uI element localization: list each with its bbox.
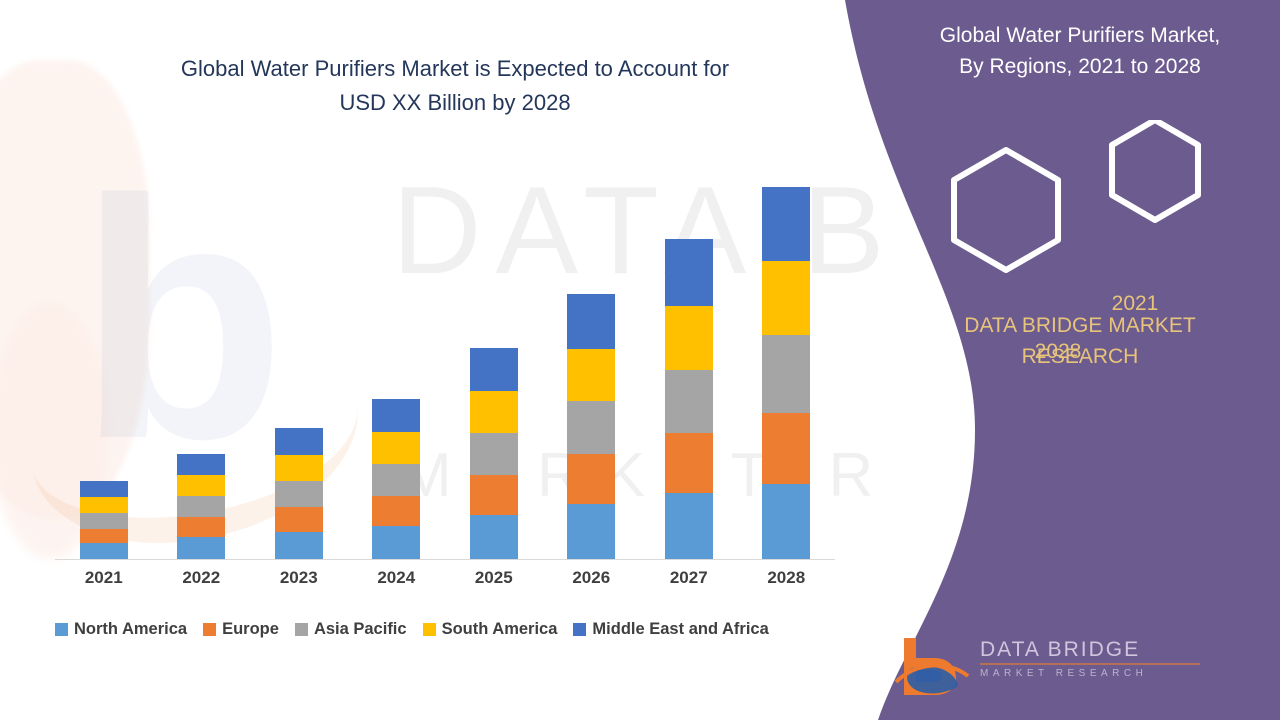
bar-segment (80, 513, 128, 529)
bar-segment (567, 401, 615, 454)
footer-logo: DATA BRIDGE MARKET RESEARCH (890, 632, 1280, 700)
bar-segment (275, 455, 323, 481)
legend-label: North America (74, 620, 187, 639)
bar-segment (275, 532, 323, 559)
bar-segment (567, 504, 615, 559)
bar-segment (372, 496, 420, 526)
bar-segment (665, 433, 713, 493)
legend-label: Europe (222, 620, 279, 639)
footer-logo-tagline: MARKET RESEARCH (980, 668, 1230, 679)
x-axis-tick-label: 2025 (449, 568, 539, 588)
brand-name: DATA BRIDGE MARKET RESEARCH (880, 310, 1280, 372)
bar-segment (567, 349, 615, 402)
bar-segment (275, 481, 323, 507)
bar-segment (177, 475, 225, 496)
bar-segment (80, 543, 128, 559)
legend-label: South America (442, 620, 558, 639)
bar-segment (275, 428, 323, 455)
hexagon-badges: 2021 2028 (880, 120, 1280, 290)
bar-group (177, 454, 225, 559)
legend-item[interactable]: South America (423, 620, 558, 639)
bar-segment (372, 399, 420, 432)
brand-panel-title: Global Water Purifiers Market, By Region… (890, 20, 1270, 82)
bar-segment (567, 454, 615, 504)
bar-segment (762, 261, 810, 335)
bar-segment (80, 481, 128, 497)
hexagon-2028-icon (954, 150, 1058, 270)
x-axis-tick-labels: 20212022202320242025202620272028 (55, 568, 835, 594)
bar-segment (80, 497, 128, 513)
brand-name-line-1: DATA BRIDGE MARKET (880, 310, 1280, 341)
legend-swatch-icon (573, 623, 586, 636)
bar-segment (665, 493, 713, 559)
bar-group (470, 348, 518, 559)
data-bridge-logo-icon (890, 632, 980, 698)
bar-segment (665, 370, 713, 434)
legend-swatch-icon (423, 623, 436, 636)
legend-swatch-icon (295, 623, 308, 636)
bar-segment (177, 517, 225, 537)
legend-item[interactable]: Asia Pacific (295, 620, 407, 639)
bar-segment (762, 484, 810, 559)
bar-segment (470, 391, 518, 433)
brand-name-line-2: RESEARCH (880, 341, 1280, 372)
bar-group (567, 294, 615, 559)
x-axis-tick-label: 2027 (644, 568, 734, 588)
legend-label: Middle East and Africa (592, 620, 768, 639)
chart-title-line-2: USD XX Billion by 2028 (110, 86, 800, 120)
legend-item[interactable]: North America (55, 620, 187, 639)
bar-segment (372, 464, 420, 496)
chart-panel: b DATA BRIDGE MARKET RESEARCH Global Wat… (0, 0, 900, 720)
bar-segment (177, 454, 225, 475)
bar-group (80, 481, 128, 559)
legend-label: Asia Pacific (314, 620, 407, 639)
bar-segment (177, 537, 225, 559)
footer-logo-rule (980, 663, 1200, 665)
bar-segment (372, 526, 420, 559)
bar-segment (275, 507, 323, 532)
brand-title-line-1: Global Water Purifiers Market, (890, 20, 1270, 51)
bar-segment (80, 529, 128, 543)
chart-legend: North AmericaEuropeAsia PacificSouth Ame… (55, 616, 845, 642)
bar-segment (567, 294, 615, 349)
bar-segment (665, 306, 713, 370)
bar-segment (470, 433, 518, 475)
legend-swatch-icon (55, 623, 68, 636)
bar-group (275, 428, 323, 559)
hexagon-outlines-icon (880, 120, 1280, 290)
x-axis-tick-label: 2028 (741, 568, 831, 588)
legend-item[interactable]: Middle East and Africa (573, 620, 768, 639)
bar-segment (762, 335, 810, 414)
x-axis-line (55, 559, 835, 560)
bar-segment (762, 187, 810, 261)
x-axis-tick-label: 2022 (156, 568, 246, 588)
legend-item[interactable]: Europe (203, 620, 279, 639)
bar-segment (665, 239, 713, 306)
bar-group (762, 187, 810, 559)
x-axis-tick-label: 2026 (546, 568, 636, 588)
bar-segment (470, 515, 518, 559)
bar-segment (177, 496, 225, 517)
bar-group (665, 239, 713, 559)
bar-segment (470, 475, 518, 515)
bar-segment (372, 432, 420, 464)
bar-segment (470, 348, 518, 392)
x-axis-tick-label: 2021 (59, 568, 149, 588)
footer-logo-name: DATA BRIDGE (980, 638, 1230, 662)
x-axis-tick-label: 2023 (254, 568, 344, 588)
hexagon-2021-icon (1112, 120, 1198, 220)
chart-title: Global Water Purifiers Market is Expecte… (110, 52, 800, 120)
x-axis-tick-label: 2024 (351, 568, 441, 588)
bar-segment (762, 413, 810, 484)
brand-title-line-2: By Regions, 2021 to 2028 (890, 51, 1270, 82)
chart-plot-area (55, 160, 835, 560)
chart-title-line-1: Global Water Purifiers Market is Expecte… (110, 52, 800, 86)
bar-group (372, 399, 420, 559)
legend-swatch-icon (203, 623, 216, 636)
